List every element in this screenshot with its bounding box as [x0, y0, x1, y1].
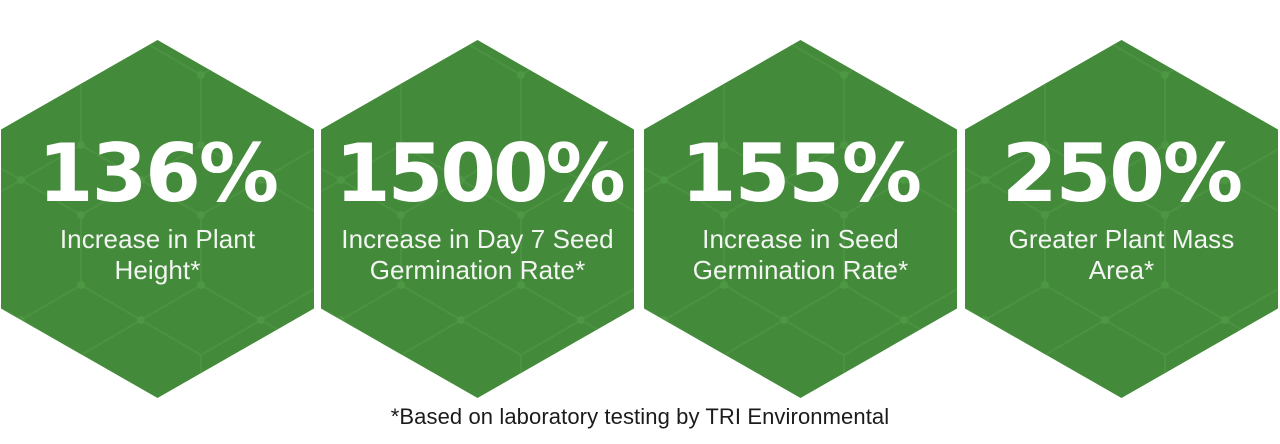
stat-value-4: 250% — [979, 136, 1264, 212]
stat-hexagon-3: 155% Increase in Seed Germination Rate* — [644, 40, 957, 398]
stat-value-3: 155% — [658, 136, 943, 212]
stat-label-2: Increase in Day 7 Seed Germination Rate* — [335, 224, 620, 286]
stat-value-2: 1500% — [335, 136, 620, 212]
stat-hexagon-1: 136% Increase in Plant Height* — [1, 40, 314, 398]
stat-hexagon-row: 136% Increase in Plant Height* — [0, 0, 1280, 400]
stat-content-3: 155% Increase in Seed Germination Rate* — [644, 136, 957, 286]
stat-hexagon-4: 250% Greater Plant Mass Area* — [965, 40, 1278, 398]
stat-value-1: 136% — [15, 136, 300, 212]
stat-hexagon-2: 1500% Increase in Day 7 Seed Germination… — [321, 40, 634, 398]
stat-label-3: Increase in Seed Germination Rate* — [658, 224, 943, 286]
stat-content-1: 136% Increase in Plant Height* — [1, 136, 314, 286]
footnote-text: *Based on laboratory testing by TRI Envi… — [0, 402, 1280, 432]
stat-content-2: 1500% Increase in Day 7 Seed Germination… — [321, 136, 634, 286]
stat-label-1: Increase in Plant Height* — [15, 224, 300, 286]
stat-content-4: 250% Greater Plant Mass Area* — [965, 136, 1278, 286]
stat-label-4: Greater Plant Mass Area* — [979, 224, 1264, 286]
infographic-root: 136% Increase in Plant Height* — [0, 0, 1280, 444]
